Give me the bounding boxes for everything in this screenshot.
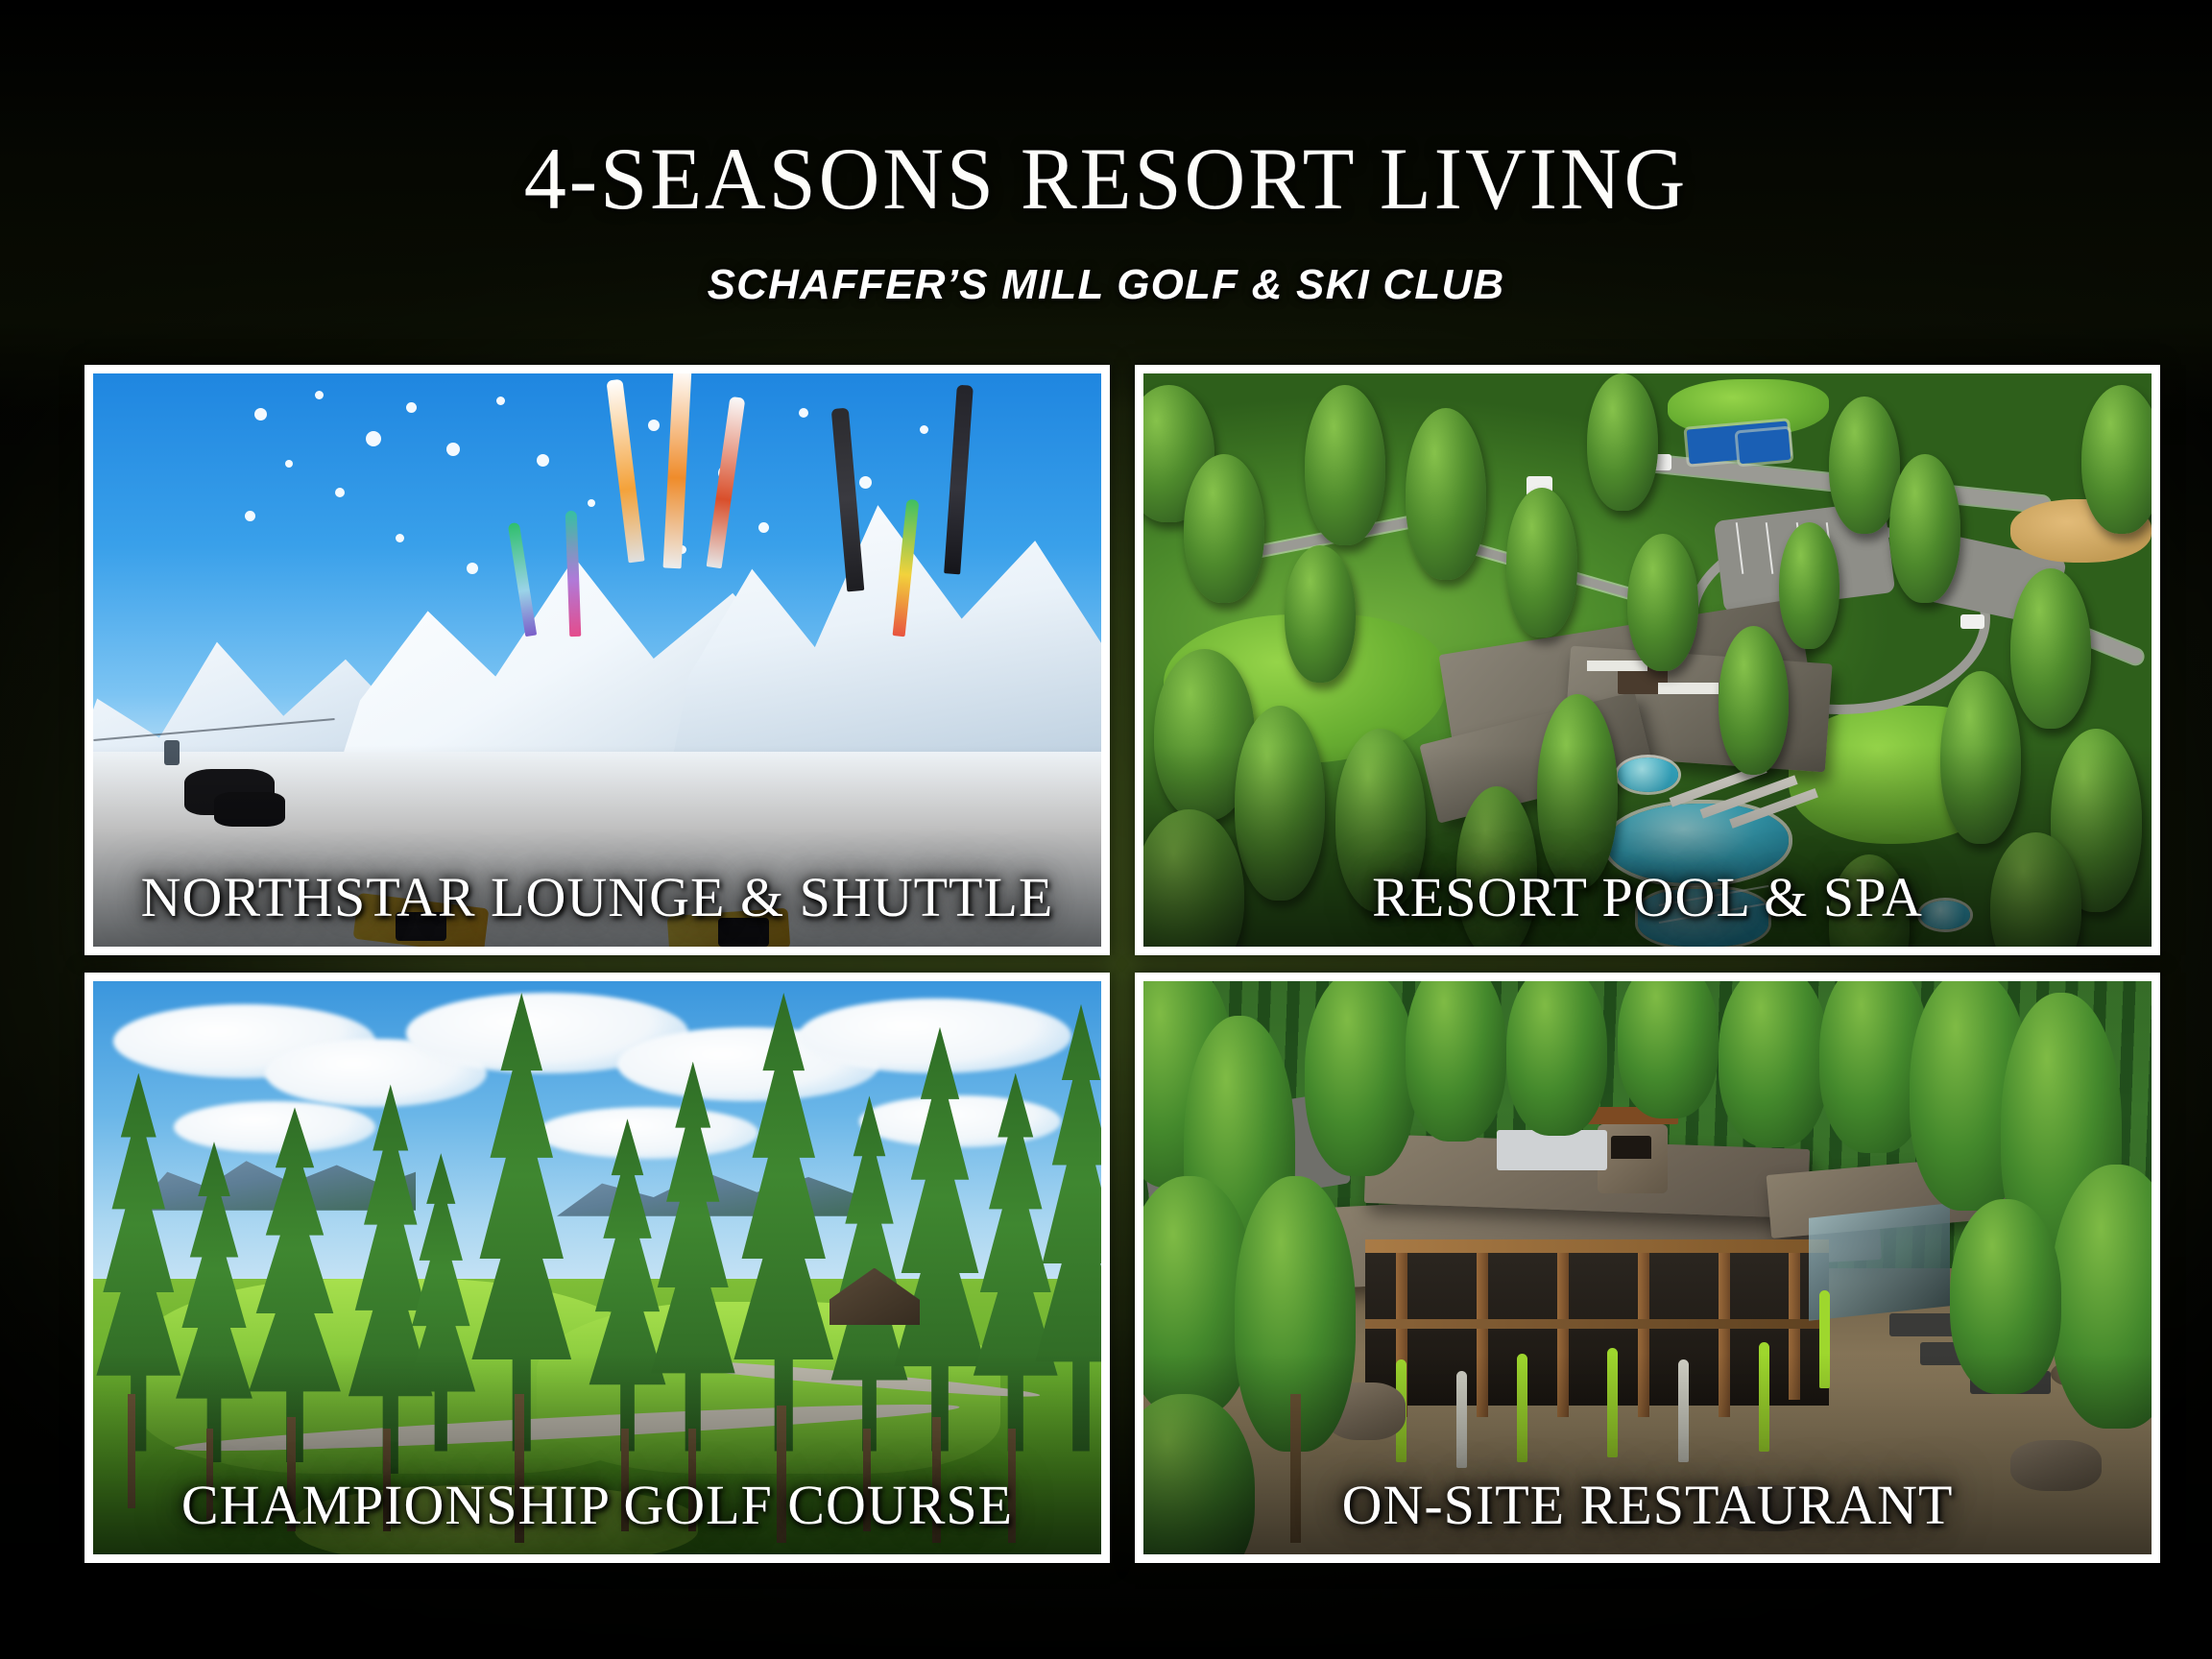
roof-vent xyxy=(1587,661,1647,672)
timber-post xyxy=(1719,1245,1730,1417)
timber-post xyxy=(1638,1245,1649,1417)
snow-spray-particle xyxy=(446,443,460,456)
tree-trunk xyxy=(206,1429,213,1521)
tree-trunk xyxy=(1008,1429,1016,1543)
tennis-court xyxy=(1737,428,1790,464)
snow-spray-particle xyxy=(496,397,505,405)
tree-trunk xyxy=(383,1429,391,1531)
cloud xyxy=(174,1101,375,1153)
pine-tree xyxy=(1940,671,2021,843)
patio-umbrella xyxy=(1607,1348,1618,1456)
ski-binding xyxy=(396,912,446,941)
photo-frame: CHAMPIONSHIP GOLF COURSE xyxy=(93,981,1101,1554)
tree-trunk xyxy=(863,1429,871,1531)
tree-trunk xyxy=(515,1394,524,1543)
chairlift-chair xyxy=(164,740,180,765)
parked-vehicle xyxy=(1960,614,1984,630)
tree-trunk xyxy=(1290,1394,1301,1543)
snow-spray-particle xyxy=(285,460,293,468)
hot-tub-spa xyxy=(1618,757,1678,792)
snow-spray-particle xyxy=(648,420,660,431)
putting-green xyxy=(295,1485,698,1554)
snow-spray-particle xyxy=(254,408,267,421)
timber-post xyxy=(1477,1245,1488,1417)
snow-spray-particle xyxy=(366,431,381,446)
restaurant-photo-art xyxy=(1143,981,2152,1554)
pine-tree xyxy=(1406,408,1486,580)
photo-frame: RESORT POOL & SPA xyxy=(1143,373,2152,947)
pine-tree xyxy=(1950,1199,2061,1394)
pine-tree xyxy=(1537,694,1618,889)
snow-spray-particle xyxy=(588,499,595,507)
photo-card-resort-pool-spa[interactable]: RESORT POOL & SPA xyxy=(1135,365,2160,955)
patio-umbrella xyxy=(1678,1359,1689,1462)
timber-beam xyxy=(1365,1239,1829,1253)
tree-trunk xyxy=(777,1406,786,1543)
page-subtitle: SCHAFFER’S MILL GOLF & SKI CLUB xyxy=(0,261,2212,309)
page-title: 4-SEASONS RESORT LIVING xyxy=(44,134,2168,223)
tree-trunk xyxy=(621,1429,629,1531)
pine-tree xyxy=(1627,534,1698,671)
aerial-resort-photo-art xyxy=(1143,373,2152,947)
hot-tub-spa xyxy=(1920,901,1971,929)
tree-trunk xyxy=(688,1429,696,1531)
pine-tree xyxy=(1235,706,1326,901)
snow-spray-particle xyxy=(799,408,808,418)
snow-spray-particle xyxy=(537,454,549,467)
pine-tree xyxy=(1285,545,1356,683)
pine-tree xyxy=(1719,626,1790,775)
photo-card-championship-golf-course[interactable]: CHAMPIONSHIP GOLF COURSE xyxy=(84,973,1110,1563)
photo-frame: NORTHSTAR LOUNGE & SHUTTLE xyxy=(93,373,1101,947)
patio-umbrella xyxy=(1759,1342,1769,1451)
patio-umbrella xyxy=(1517,1354,1527,1462)
rooftop-equipment xyxy=(1497,1130,1608,1170)
snow-spray-particle xyxy=(467,563,478,574)
snow-spray-particle xyxy=(406,402,417,413)
pine-tree xyxy=(1829,397,1900,534)
gallery-grid: NORTHSTAR LOUNGE & SHUTTLE xyxy=(84,365,2128,1563)
golf-course-photo-art xyxy=(93,981,1101,1554)
pine-tree xyxy=(1779,522,1839,648)
pine-tree xyxy=(1889,454,1960,603)
snow-spray-particle xyxy=(920,425,928,434)
patio-umbrella xyxy=(1819,1290,1830,1387)
cloud xyxy=(859,1095,1061,1147)
header: 4-SEASONS RESORT LIVING SCHAFFER’S MILL … xyxy=(0,0,2212,355)
timber-post xyxy=(1557,1245,1569,1417)
patio-umbrella xyxy=(1456,1371,1467,1468)
photo-card-on-site-restaurant[interactable]: ON-SITE RESTAURANT xyxy=(1135,973,2160,1563)
ski-binding xyxy=(718,918,769,947)
tree-trunk xyxy=(932,1417,941,1543)
tree-trunk xyxy=(287,1417,296,1531)
pine-tree xyxy=(1184,454,1264,603)
pine-tree xyxy=(1618,981,1719,1118)
pine-tree xyxy=(1587,373,1658,511)
pine-tree xyxy=(1506,488,1577,637)
photo-card-northstar-lounge-shuttle[interactable]: NORTHSTAR LOUNGE & SHUTTLE xyxy=(84,365,1110,955)
pine-tree xyxy=(1406,981,1506,1142)
pine-tree xyxy=(1719,981,1830,1147)
tree-trunk xyxy=(128,1394,135,1508)
pine-tree xyxy=(1335,729,1427,912)
pine-tree xyxy=(1305,981,1416,1176)
timber-beam xyxy=(1365,1319,1829,1329)
boulder xyxy=(1719,1485,1819,1531)
chimney-opening xyxy=(1611,1136,1651,1159)
snow-spray-particle xyxy=(315,391,324,399)
ski-photo-art xyxy=(93,373,1101,947)
glass-facade xyxy=(1809,1203,1950,1321)
cloud xyxy=(537,1107,758,1159)
stone-chimney xyxy=(1598,1124,1669,1193)
pine-tree xyxy=(1506,981,1607,1136)
snow-spray-particle xyxy=(245,511,255,521)
pine-tree xyxy=(1305,385,1385,545)
boulder xyxy=(2010,1440,2102,1492)
pine-tree xyxy=(1456,786,1537,947)
black-glove xyxy=(214,792,285,827)
pine-tree xyxy=(2010,568,2091,729)
roof-vent xyxy=(1658,683,1719,694)
photo-frame: ON-SITE RESTAURANT xyxy=(1143,981,2152,1554)
